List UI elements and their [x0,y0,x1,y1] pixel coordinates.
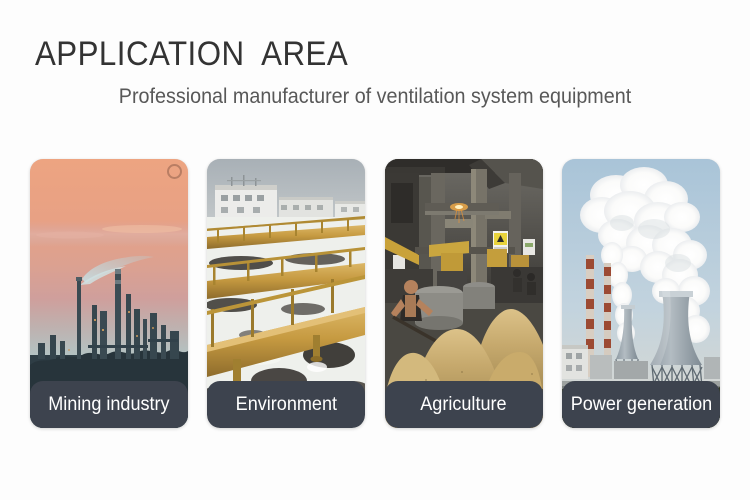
application-area-banner: APPLICATION AREA Professional manufactur… [0,0,750,500]
application-card-row: Mining industry [30,159,720,428]
page-title: APPLICATION AREA [0,34,690,74]
card-caption-environment: Environment [207,381,365,428]
card-caption-agriculture: Agriculture [385,381,543,428]
card-caption-power-generation: Power generation [562,381,720,428]
application-card-agriculture[interactable]: Agriculture [385,159,543,428]
card-caption-label: Mining industry [48,394,169,416]
application-card-environment[interactable]: Environment [207,159,365,428]
card-caption-label: Power generation [570,394,711,416]
card-caption-label: Environment [236,394,337,416]
header: APPLICATION AREA Professional manufactur… [0,0,750,111]
card-caption-mining-industry: Mining industry [30,381,188,428]
card-caption-label: Agriculture [421,394,507,416]
application-card-mining-industry[interactable]: Mining industry [30,159,188,428]
page-subtitle: Professional manufacturer of ventilation… [23,83,728,111]
application-card-power-generation[interactable]: Power generation [562,159,720,428]
